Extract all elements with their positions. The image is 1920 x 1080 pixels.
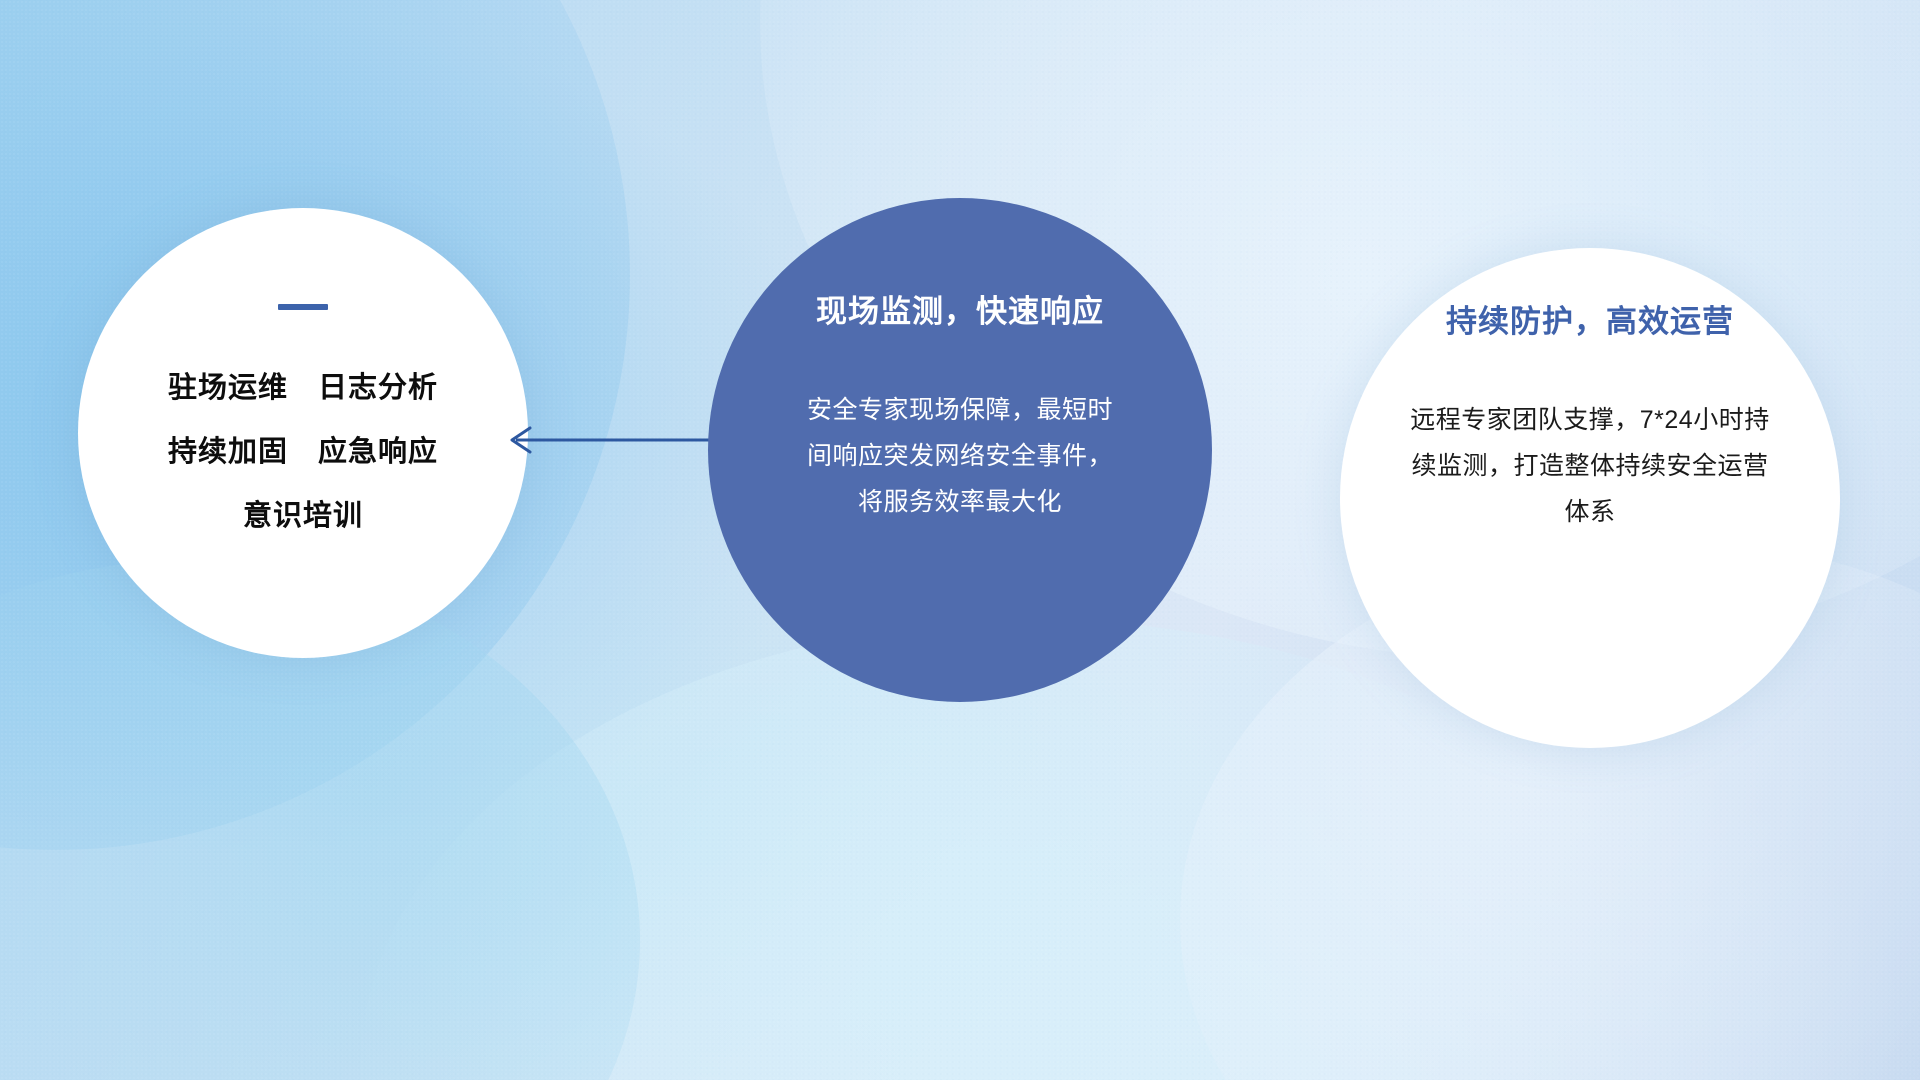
left-circle-line-1: 驻场运维 日志分析	[168, 356, 438, 420]
right-continuous-protection-circle: 持续防护，高效运营 远程专家团队支撑，7*24小时持续监测，打造整体持续安全运营…	[1340, 248, 1840, 748]
middle-onsite-monitoring-circle: 现场监测，快速响应 安全专家现场保障，最短时间响应突发网络安全事件，将服务效率最…	[708, 198, 1212, 702]
dash-accent-icon	[278, 304, 328, 310]
middle-circle-body: 安全专家现场保障，最短时间响应突发网络安全事件，将服务效率最大化	[801, 387, 1119, 525]
right-circle-body: 远程专家团队支撑，7*24小时持续监测，打造整体持续安全运营体系	[1404, 397, 1776, 535]
left-circle-line-2: 持续加固 应急响应	[168, 420, 438, 484]
slide-canvas: 驻场运维 日志分析 持续加固 应急响应 意识培训 现场监测，快速响应 安全专家现…	[0, 0, 1920, 1080]
middle-circle-title: 现场监测，快速响应	[816, 286, 1104, 331]
left-capability-circle: 驻场运维 日志分析 持续加固 应急响应 意识培训	[78, 208, 528, 658]
right-circle-title: 持续防护，高效运营	[1446, 296, 1734, 341]
left-circle-line-3: 意识培训	[168, 484, 438, 548]
left-circle-keyword-list: 驻场运维 日志分析 持续加固 应急响应 意识培训	[168, 356, 438, 548]
